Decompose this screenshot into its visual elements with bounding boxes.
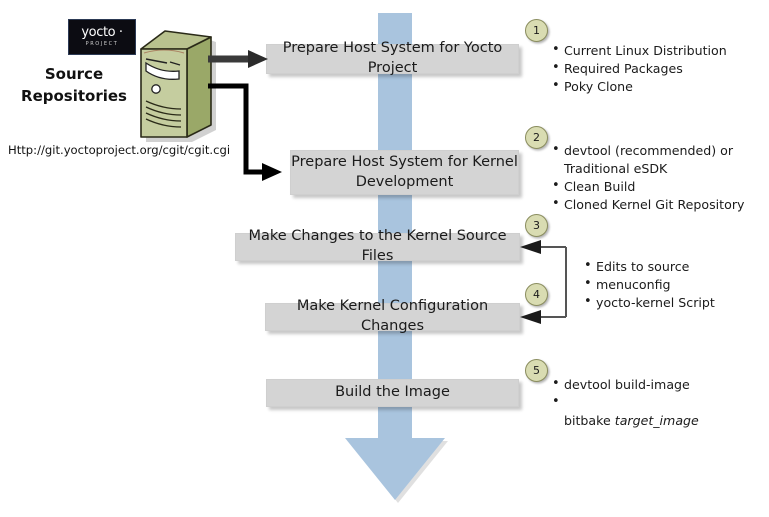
bullet-item: Poky Clone [551,78,761,96]
bullet-item: yocto-kernel Script [583,294,763,312]
step-badge-4: 4 [525,283,548,306]
step-box-1-label: Prepare Host System for Yocto Project [267,39,518,78]
diagram-canvas: yocto · PROJECT Source Repositories Http… [0,0,769,517]
bullet-item: Clean Build [551,178,761,196]
logo-subtext: PROJECT [69,41,135,47]
bullet-item: Required Packages [551,60,761,78]
step-2-bullets: devtool (recommended) or Traditional eSD… [551,142,761,214]
bullet-item: Edits to source [583,258,763,276]
step-badge-5: 5 [525,359,548,382]
step-5-bullets: devtool build-image bitbake target_image [551,376,761,430]
yocto-project-logo: yocto · PROJECT [68,19,136,55]
connector-source-to-step1 [208,50,268,68]
step-badge-1: 1 [525,19,548,42]
logo-wordmark: yocto · [69,25,135,40]
step-badge-5-number: 5 [533,364,540,377]
step-box-2-label: Prepare Host System for Kernel Developme… [291,153,518,192]
flow-arrow-head-icon [345,438,445,500]
bullet-command-name: bitbake [564,413,615,428]
connector-bracket-steps-3-4 [520,240,566,324]
source-repositories-url: Http://git.yoctoproject.org/cgit/cgit.cg… [8,143,230,157]
step-box-5[interactable]: Build the Image [266,379,519,407]
step-box-4[interactable]: Make Kernel Configuration Changes [265,303,520,331]
step-box-3-label: Make Changes to the Kernel Source Files [236,227,519,266]
step-badge-1-number: 1 [533,24,540,37]
step-box-3[interactable]: Make Changes to the Kernel Source Files [235,233,520,261]
step-badge-3-number: 3 [533,219,540,232]
step-box-2[interactable]: Prepare Host System for Kernel Developme… [290,150,519,195]
bullet-item: menuconfig [583,276,763,294]
bullet-item: Current Linux Distribution [551,42,761,60]
connector-source-to-step2 [208,86,282,181]
step-badge-3: 3 [525,214,548,237]
steps-3-4-shared-bullets: Edits to source menuconfig yocto-kernel … [583,258,763,312]
step-box-4-label: Make Kernel Configuration Changes [266,297,519,336]
source-repositories-label: Source Repositories [14,64,134,108]
step-badge-4-number: 4 [533,288,540,301]
server-icon [133,27,217,145]
bullet-item: Cloned Kernel Git Repository [551,196,761,214]
bullet-item-command: bitbake target_image [551,394,761,430]
step-box-5-label: Build the Image [335,383,450,403]
bullet-item: devtool build-image [551,376,761,394]
step-badge-2: 2 [525,126,548,149]
step-1-bullets: Current Linux Distribution Required Pack… [551,42,761,96]
step-badge-2-number: 2 [533,131,540,144]
bullet-item: devtool (recommended) or Traditional eSD… [551,142,761,178]
step-box-1[interactable]: Prepare Host System for Yocto Project [266,44,519,74]
bullet-command-arg: target_image [615,413,699,428]
